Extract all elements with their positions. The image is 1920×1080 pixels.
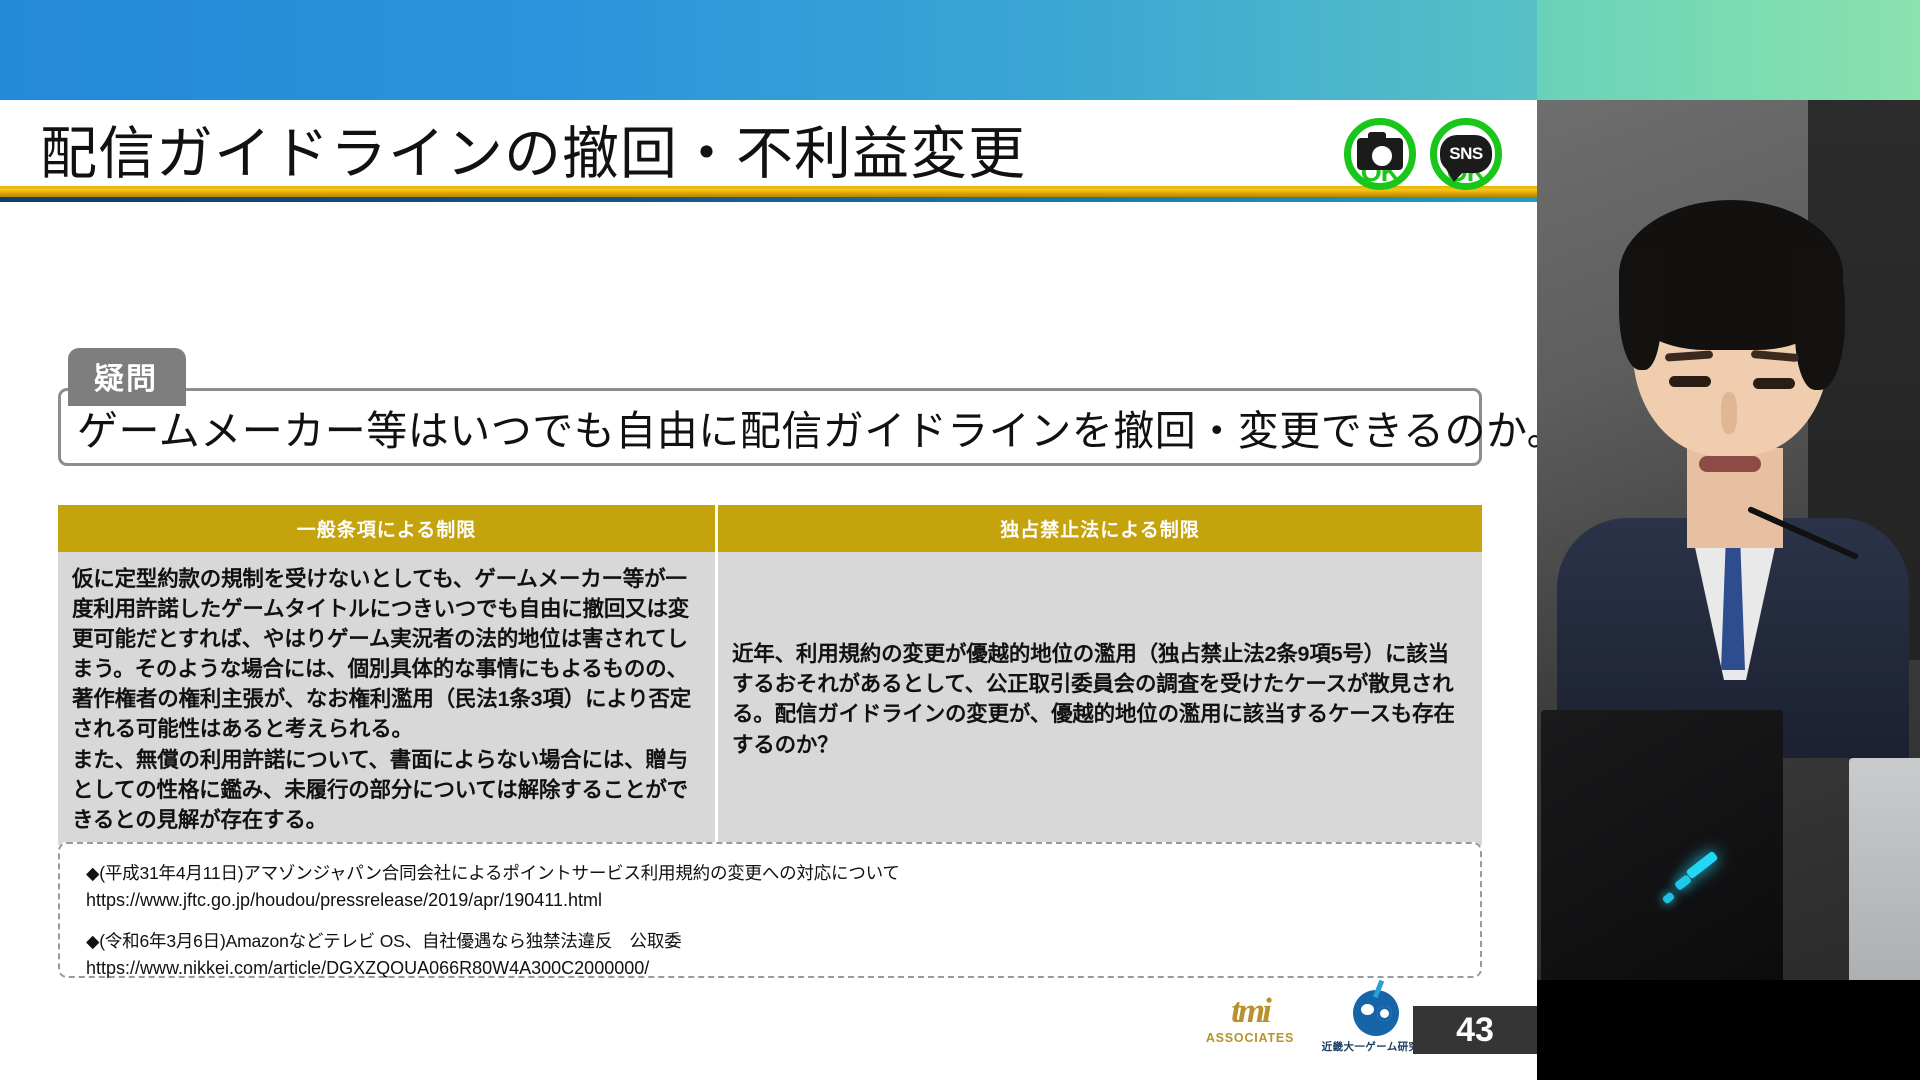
permission-badges: OK SNS OK xyxy=(1344,118,1502,190)
question-text: ゲームメーカー等はいつでも自由に配信ガイドラインを撤回・変更できるのか。 xyxy=(77,397,1568,457)
video-feed xyxy=(1537,100,1920,980)
game-controller-icon xyxy=(1353,990,1399,1036)
page-title: 配信ガイドラインの撤回・不利益変更 xyxy=(40,108,1026,190)
sns-glyph-text: SNS xyxy=(1449,144,1482,164)
question-tab-label: 疑問 xyxy=(68,348,186,406)
question-box: ゲームメーカー等はいつでも自由に配信ガイドラインを撤回・変更できるのか。 xyxy=(58,388,1482,466)
reference-1-url[interactable]: https://www.jftc.go.jp/houdou/pressrelea… xyxy=(86,887,1480,914)
table-body-row: 仮に定型約款の規制を受けないとしても、ゲームメーカー等が一度利用許諾したゲームタ… xyxy=(58,552,1482,845)
tmi-logo-name: ASSOCIATES xyxy=(1196,1031,1304,1045)
comparison-table: 一般条項による制限 独占禁止法による制限 仮に定型約款の規制を受けないとしても、… xyxy=(58,505,1482,845)
sns-ok-badge: SNS OK xyxy=(1430,118,1502,190)
table-cell-antimonopoly: 近年、利用規約の変更が優越的地位の濫用（独占禁止法2条9項5号）に該当するおそれ… xyxy=(718,552,1482,845)
slide-canvas: 配信ガイドラインの撤回・不利益変更 疑問 ゲームメーカー等はいつでも自由に配信ガ… xyxy=(0,100,1537,980)
gold-divider xyxy=(0,186,1537,197)
tmi-logo-mark: tmi xyxy=(1196,993,1304,1028)
table-cell-general-clause: 仮に定型約款の規制を受けないとしても、ゲームメーカー等が一度利用許諾したゲームタ… xyxy=(58,552,718,845)
speaker-video-panel xyxy=(1537,0,1920,1080)
table-header-general-clause: 一般条項による制限 xyxy=(58,505,718,552)
reference-1-label: ◆(平成31年4月11日)アマゾンジャパン合同会社によるポイントサービス利用規約… xyxy=(86,860,1480,887)
table-header-row: 一般条項による制限 独占禁止法による制限 xyxy=(58,505,1482,552)
laptop-silver xyxy=(1849,758,1920,980)
blue-divider xyxy=(0,197,1537,202)
slide-screenshot: CEDEC2024 Computer Entertainment Develop… xyxy=(0,0,1920,1080)
table-cell-antimonopoly-text: 近年、利用規約の変更が優越的地位の濫用（独占禁止法2条9項5号）に該当するおそれ… xyxy=(732,639,1468,759)
reference-2-label: ◆(令和6年3月6日)Amazonなどテレビ OS、自社優遇なら独禁法違反 公取… xyxy=(86,928,1480,955)
speaker-hair-right xyxy=(1795,250,1845,390)
camera-icon xyxy=(1357,138,1403,170)
video-top-strip xyxy=(1537,0,1920,100)
speaker-hair-left xyxy=(1619,250,1661,370)
tmi-associates-logo: tmi ASSOCIATES xyxy=(1196,993,1304,1045)
laptop-black xyxy=(1541,710,1783,980)
speaker-eye-right xyxy=(1753,378,1795,389)
speaker-eye-left xyxy=(1669,376,1711,387)
speech-bubble-icon: SNS xyxy=(1440,135,1492,173)
joystick-icon xyxy=(1373,980,1384,999)
table-header-antimonopoly: 独占禁止法による制限 xyxy=(718,505,1482,552)
video-bottom-strip xyxy=(1537,980,1920,1080)
speaker-nose xyxy=(1721,392,1737,434)
references-box: ◆(平成31年4月11日)アマゾンジャパン合同会社によるポイントサービス利用規約… xyxy=(58,842,1482,978)
camera-ok-badge: OK xyxy=(1344,118,1416,190)
speaker-mouth xyxy=(1699,456,1761,472)
reference-2-url[interactable]: https://www.nikkei.com/article/DGXZQOUA0… xyxy=(86,955,1480,982)
page-number-badge: 43 xyxy=(1413,1006,1537,1054)
reference-spacer xyxy=(86,914,1480,928)
